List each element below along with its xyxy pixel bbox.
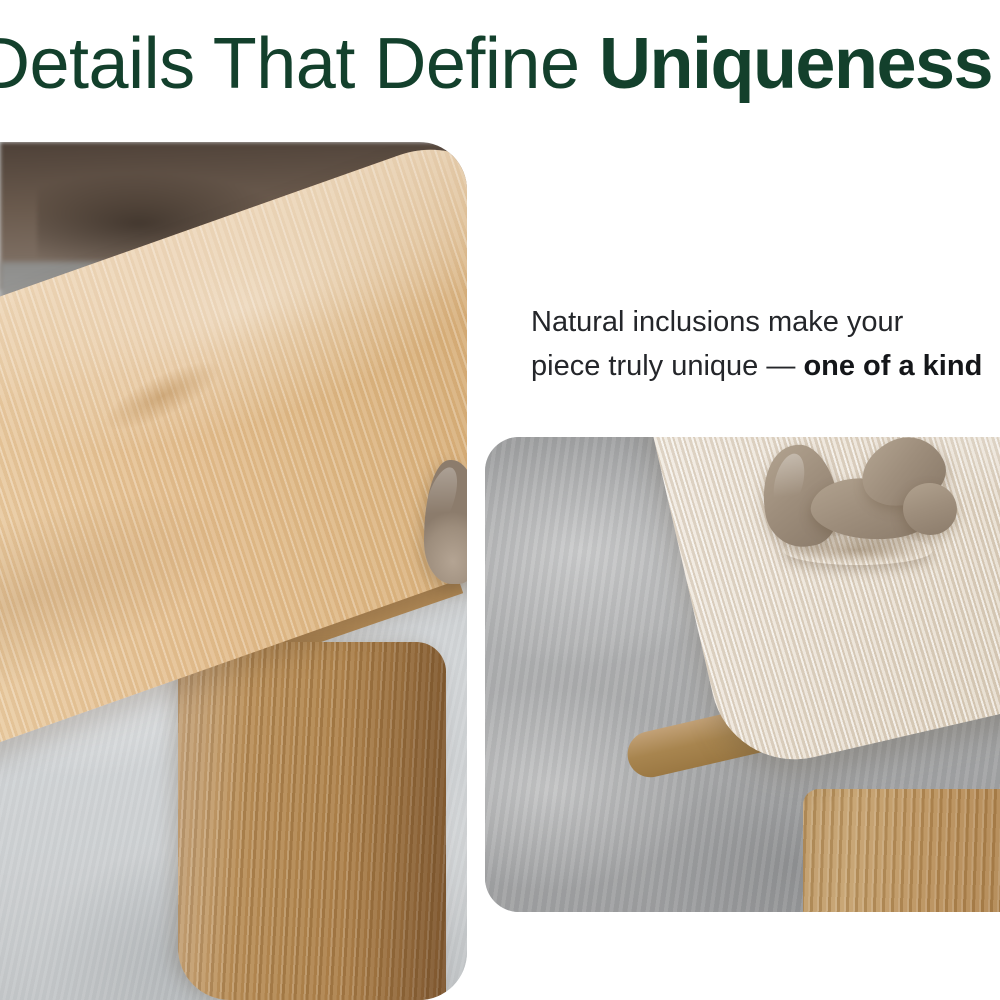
body-line-2-regular: piece truly unique — bbox=[531, 350, 803, 382]
body-line-2: piece truly unique — one of a kind bbox=[531, 344, 1000, 388]
slide-canvas: Details That Define Uniqueness Natural i… bbox=[0, 0, 1000, 1000]
product-photo-right[interactable] bbox=[485, 437, 1000, 912]
left-photo-scene bbox=[0, 142, 467, 1000]
left-table-leg bbox=[178, 642, 446, 1000]
body-line-2-bold: one of a kind bbox=[803, 350, 982, 382]
body-paragraph: Natural inclusions make your piece truly… bbox=[531, 300, 1000, 388]
right-stone-sculpture bbox=[753, 439, 953, 564]
page-title: Details That Define Uniqueness bbox=[0, 20, 1000, 108]
right-table-leg bbox=[803, 789, 1000, 912]
page-title-light: Details That Define bbox=[0, 24, 599, 104]
product-photo-left[interactable] bbox=[0, 142, 467, 1000]
left-leg-shading bbox=[178, 642, 446, 1000]
page-title-bold: Uniqueness bbox=[599, 24, 992, 104]
right-photo-scene bbox=[485, 437, 1000, 912]
body-line-1: Natural inclusions make your bbox=[531, 300, 1000, 344]
right-leg-fluting bbox=[803, 789, 1000, 912]
